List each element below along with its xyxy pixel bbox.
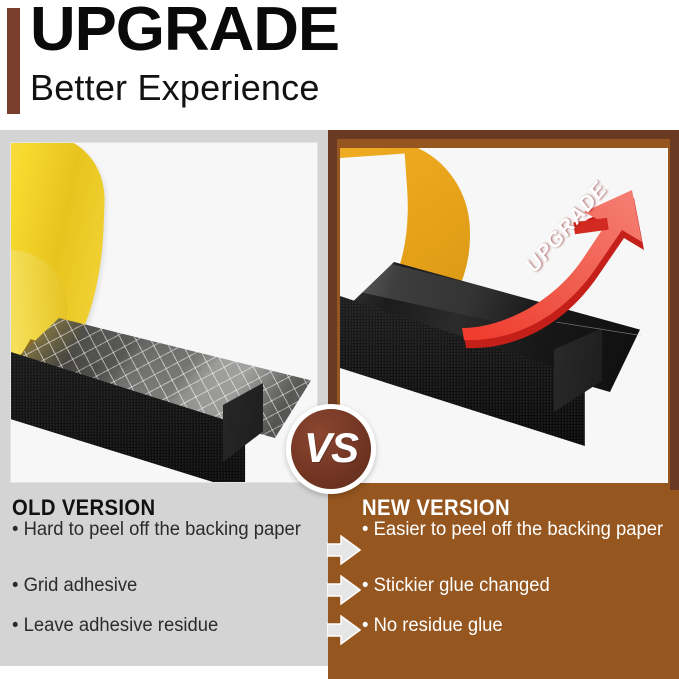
list-item: • Leave adhesive residue	[12, 616, 218, 637]
page-title: UPGRADE	[30, 0, 339, 61]
new-version-product-image: UPGRADE	[340, 148, 668, 483]
list-item: • Hard to peel off the backing paper	[12, 520, 313, 541]
old-version-product-image	[10, 142, 318, 483]
chevron-right-icon	[327, 615, 361, 645]
chevron-right-icon	[327, 575, 361, 605]
page-subtitle: Better Experience	[30, 70, 320, 106]
vs-badge-label: VS	[304, 427, 358, 469]
new-version-feature-list: NEW VERSION • Stickier glue changed • No…	[362, 496, 667, 541]
list-item: • No residue glue	[362, 616, 503, 637]
upgrade-arrow-icon	[458, 176, 664, 352]
list-item: • Easier to peel off the backing paper	[362, 520, 658, 541]
list-item: • Stickier glue changed	[362, 576, 550, 597]
header-banner: UPGRADE Better Experience	[0, 0, 679, 130]
old-version-heading: OLD VERSION	[12, 496, 297, 520]
chevron-right-icon	[327, 535, 361, 565]
vs-badge: VS	[286, 404, 376, 494]
old-version-feature-list: OLD VERSION • Grid adhesive • Leave adhe…	[12, 496, 322, 541]
accent-bar	[7, 8, 20, 114]
new-panel-right-border	[670, 130, 679, 490]
list-item: • Grid adhesive	[12, 576, 137, 597]
new-version-heading: NEW VERSION	[362, 496, 643, 520]
new-panel-top-border	[328, 130, 679, 139]
